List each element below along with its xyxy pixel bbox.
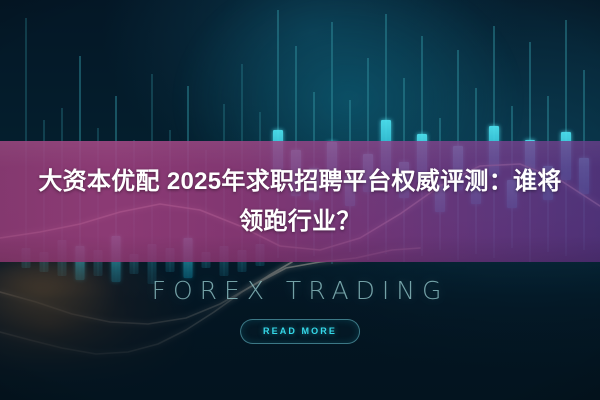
- headline-line-1: 大资本优配 2025年求职招聘平台权威评测：谁将: [38, 162, 561, 202]
- headline-line-2: 领跑行业？: [239, 202, 361, 242]
- forex-trading-wordmark: FOREX TRADING: [0, 276, 600, 305]
- headline-block: 大资本优配 2025年求职招聘平台权威评测：谁将 领跑行业？: [0, 141, 600, 262]
- read-more-button[interactable]: READ MORE: [240, 319, 360, 344]
- promo-banner: 大资本优配 2025年求职招聘平台权威评测：谁将 领跑行业？ FOREX TRA…: [0, 0, 600, 400]
